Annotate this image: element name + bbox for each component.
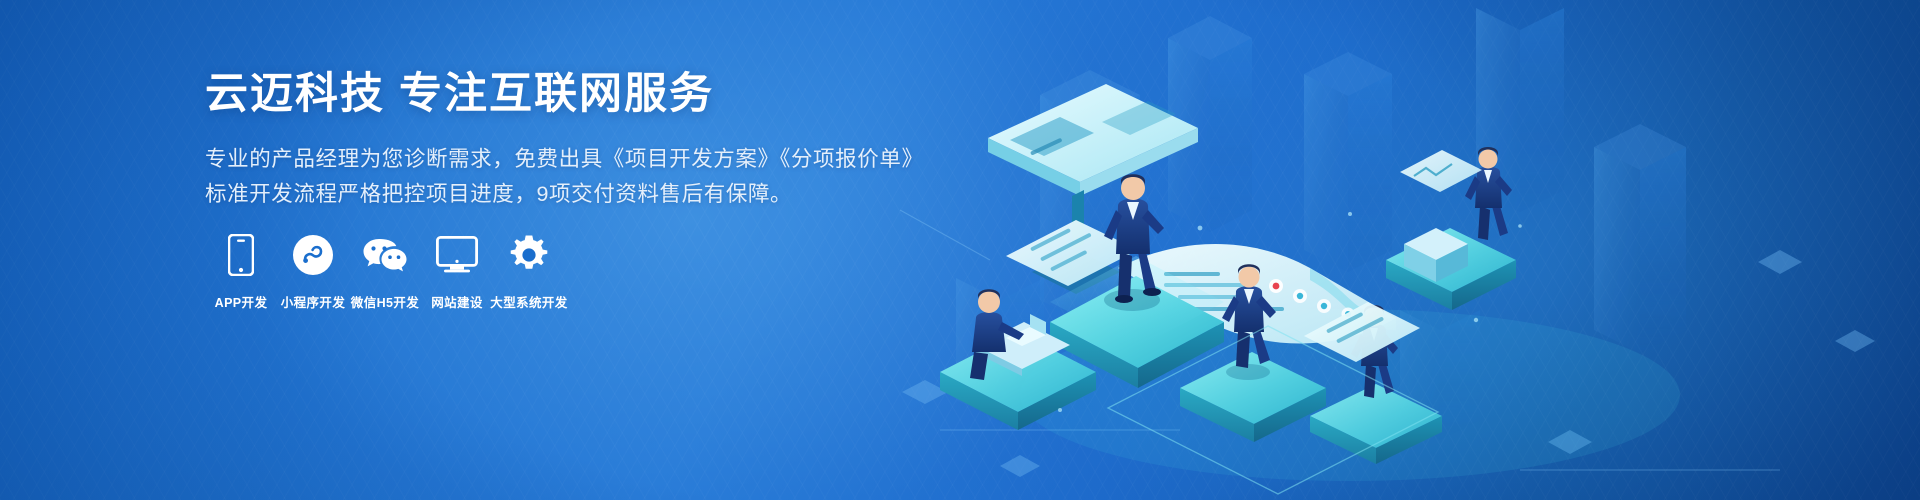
subtitle-line-1: 专业的产品经理为您诊断需求，免费出具《项目开发方案》《分项报价单》: [205, 142, 905, 177]
subtitle-line-2: 标准开发流程严格把控项目进度，9项交付资料售后有保障。: [205, 177, 905, 212]
isometric-illustration: [880, 0, 1920, 500]
service-label: 大型系统开发: [490, 292, 567, 311]
service-item-large-system[interactable]: 大型系统开发: [493, 232, 565, 311]
mini-program-icon: [292, 232, 334, 278]
platform-right-mid: [1386, 228, 1516, 310]
service-item-website[interactable]: 网站建设: [421, 232, 493, 311]
service-item-wechat-h5[interactable]: 微信H5开发: [349, 232, 421, 311]
wechat-icon: [362, 232, 408, 278]
service-label: 小程序开发: [281, 292, 346, 311]
service-item-app[interactable]: APP开发: [205, 232, 277, 311]
service-label: 网站建设: [431, 292, 483, 311]
hero-banner: 云迈科技 专注互联网服务 专业的产品经理为您诊断需求，免费出具《项目开发方案》《…: [0, 0, 1920, 500]
service-label: APP开发: [215, 292, 268, 311]
service-list: APP开发 小程序开发: [205, 232, 565, 311]
page-title: 云迈科技 专注互联网服务: [205, 70, 905, 118]
standing-figure-right-mid: [1465, 147, 1512, 240]
banner-copy: 云迈科技 专注互联网服务 专业的产品经理为您诊断需求，免费出具《项目开发方案》《…: [205, 70, 905, 212]
banner-subtitle: 专业的产品经理为您诊断需求，免费出具《项目开发方案》《分项报价单》 标准开发流程…: [205, 142, 905, 212]
mobile-phone-icon: [228, 232, 254, 278]
service-item-mini-program[interactable]: 小程序开发: [277, 232, 349, 311]
service-label: 微信H5开发: [351, 292, 419, 311]
gear-icon: [509, 232, 549, 278]
monitor-icon: [436, 232, 478, 278]
chart-card: [1400, 150, 1482, 192]
